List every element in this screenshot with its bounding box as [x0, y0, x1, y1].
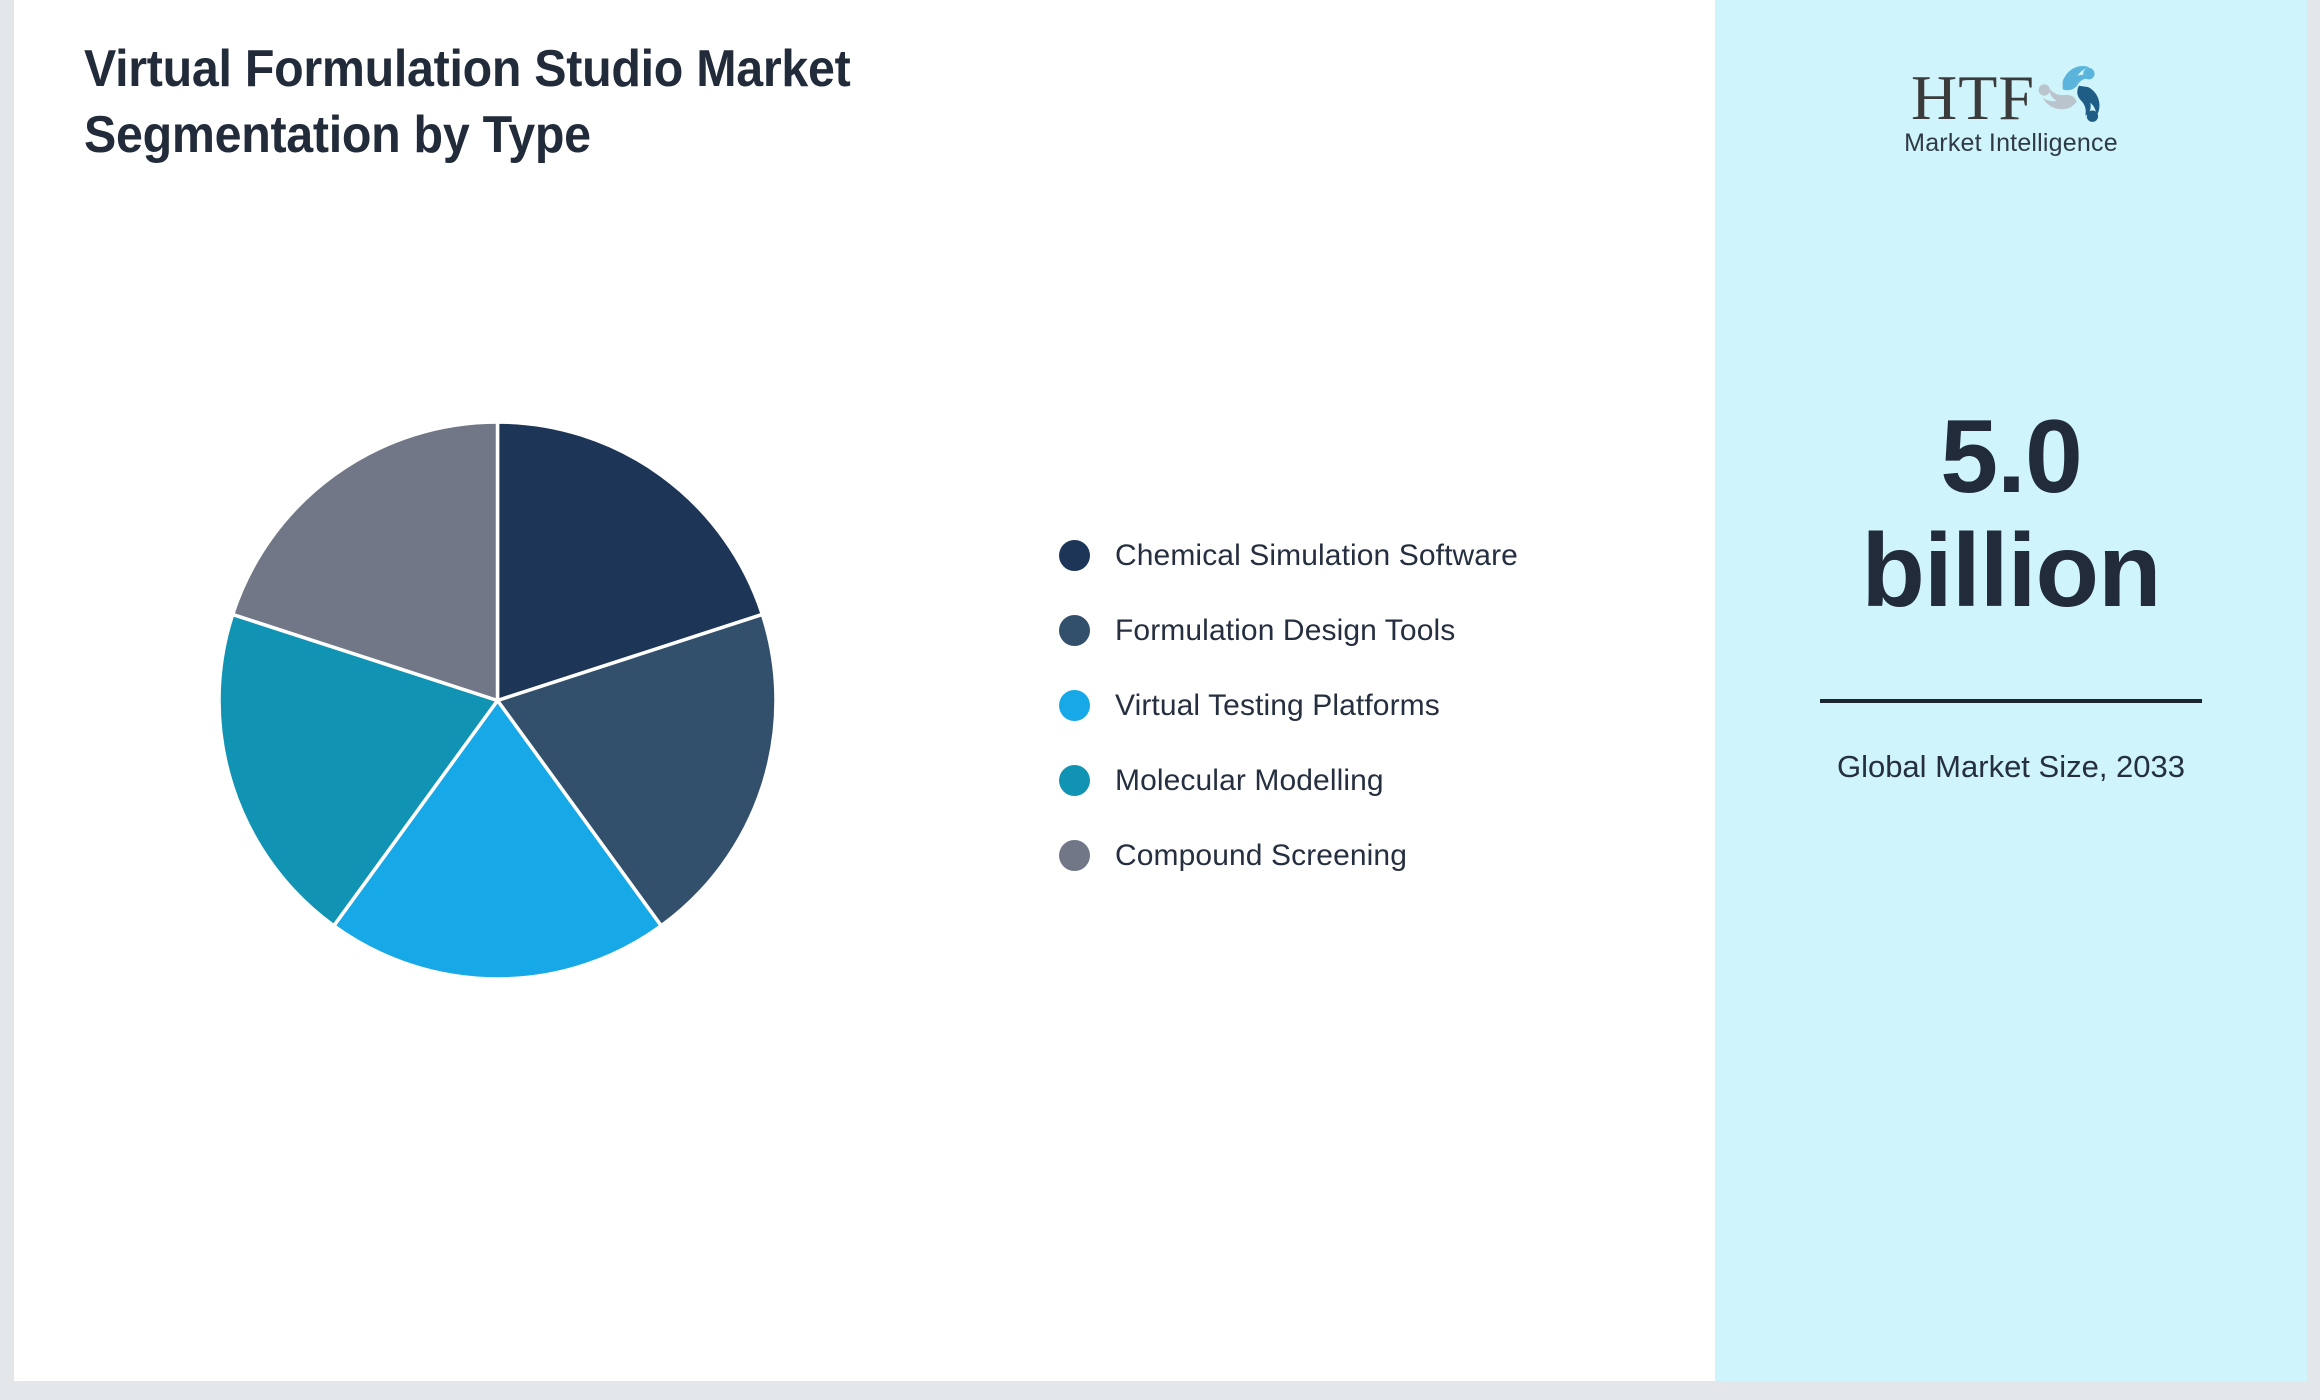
pie-chart — [219, 422, 776, 979]
stat-pane: HTF Market Intelligence 5.0 billion — [1715, 0, 2307, 1381]
legend-item-label: Molecular Modelling — [1115, 764, 1384, 798]
legend-item-label: Chemical Simulation Software — [1115, 539, 1518, 573]
htf-triskelion-emblem-icon — [2037, 56, 2111, 124]
chart-pane: Virtual Formulation Studio Market Segmen… — [14, 0, 1715, 1381]
stat-value-line-2: billion — [1715, 514, 2307, 628]
legend-item-label: Compound Screening — [1115, 839, 1407, 873]
chart-legend: Chemical Simulation Software Formulation… — [1059, 518, 1518, 893]
logo-mark-row: HTF — [1911, 56, 2111, 126]
stat-caption: Global Market Size, 2033 — [1715, 747, 2307, 787]
legend-item-chemical-simulation-software[interactable]: Chemical Simulation Software — [1059, 518, 1518, 593]
legend-swatch-icon — [1059, 540, 1090, 571]
stat-divider — [1820, 699, 2202, 703]
legend-swatch-icon — [1059, 765, 1090, 796]
legend-swatch-icon — [1059, 840, 1090, 871]
stat-value: 5.0 billion — [1715, 400, 2307, 629]
brand-logo: HTF Market Intelligence — [1715, 56, 2307, 158]
legend-item-molecular-modelling[interactable]: Molecular Modelling — [1059, 743, 1518, 818]
legend-item-formulation-design-tools[interactable]: Formulation Design Tools — [1059, 593, 1518, 668]
legend-swatch-icon — [1059, 615, 1090, 646]
legend-item-virtual-testing-platforms[interactable]: Virtual Testing Platforms — [1059, 668, 1518, 743]
logo-wordmark: HTF — [1911, 70, 2035, 126]
page-title: Virtual Formulation Studio Market Segmen… — [84, 36, 977, 168]
legend-item-label: Virtual Testing Platforms — [1115, 689, 1440, 723]
infographic-card: Virtual Formulation Studio Market Segmen… — [14, 0, 2307, 1381]
logo-tagline: Market Intelligence — [1904, 129, 2118, 158]
stat-value-line-1: 5.0 — [1715, 400, 2307, 514]
legend-item-compound-screening[interactable]: Compound Screening — [1059, 818, 1518, 893]
stat-block: 5.0 billion Global Market Size, 2033 — [1715, 400, 2307, 786]
legend-item-label: Formulation Design Tools — [1115, 614, 1455, 648]
legend-swatch-icon — [1059, 690, 1090, 721]
pie-chart-svg — [219, 422, 776, 979]
